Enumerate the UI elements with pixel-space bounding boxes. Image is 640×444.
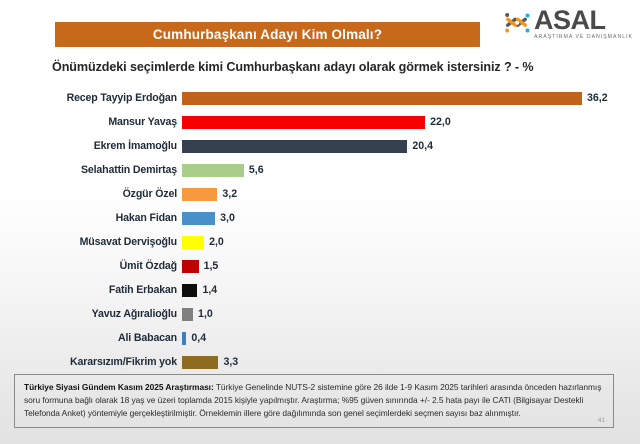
bar-segment xyxy=(182,212,215,225)
bar-value-label: 3,3 xyxy=(223,356,238,368)
methodology-note: Türkiye Siyasi Gündem Kasım 2025 Araştır… xyxy=(14,374,614,428)
bar-segment xyxy=(182,92,582,105)
bar-category-label: Kararsızım/Fikrim yok xyxy=(0,356,182,368)
bar-track: 0,4 xyxy=(182,332,640,345)
methodology-title: Türkiye Siyasi Gündem Kasım 2025 Araştır… xyxy=(24,382,214,392)
bar-track: 3,0 xyxy=(182,212,640,225)
bar-track: 3,2 xyxy=(182,188,640,201)
bar-row: Özgür Özel3,2 xyxy=(0,182,640,206)
bar-segment xyxy=(182,116,425,129)
bar-segment xyxy=(182,308,193,321)
bar-category-label: Recep Tayyip Erdoğan xyxy=(0,92,182,104)
bar-segment xyxy=(182,140,407,153)
bar-value-label: 1,0 xyxy=(198,308,213,320)
bar-value-label: 5,6 xyxy=(249,164,264,176)
bar-category-label: Fatih Erbakan xyxy=(0,284,182,296)
bar-row: Müsavat Dervişoğlu2,0 xyxy=(0,230,640,254)
bar-track: 1,5 xyxy=(182,260,640,273)
slide-header: Cumhurbaşkanı Adayı Kim Olmalı? ASAL xyxy=(0,0,640,52)
bar-row: Mansur Yavaş22,0 xyxy=(0,110,640,134)
bar-value-label: 22,0 xyxy=(430,116,451,128)
bar-row: Recep Tayyip Erdoğan36,2 xyxy=(0,86,640,110)
bar-row: Ali Babacan0,4 xyxy=(0,326,640,350)
bar-segment xyxy=(182,260,199,273)
bar-category-label: Ümit Özdağ xyxy=(0,260,182,272)
asal-logo-tagline: ARAŞTIRMA VE DANIŞMANLIK xyxy=(534,35,633,40)
bar-row: Ümit Özdağ1,5 xyxy=(0,254,640,278)
bar-category-label: Hakan Fidan xyxy=(0,212,182,224)
bar-segment xyxy=(182,188,217,201)
bar-row: Selahattin Demirtaş5,6 xyxy=(0,158,640,182)
bar-track: 22,0 xyxy=(182,116,640,129)
bar-category-label: Selahattin Demirtaş xyxy=(0,164,182,176)
bar-track: 36,2 xyxy=(182,92,640,105)
bar-track: 5,6 xyxy=(182,164,640,177)
bar-track: 1,0 xyxy=(182,308,640,321)
bar-value-label: 3,0 xyxy=(220,212,235,224)
bar-value-label: 1,5 xyxy=(204,260,219,272)
bar-segment xyxy=(182,332,186,345)
bar-segment xyxy=(182,164,244,177)
bar-row: Ekrem İmamoğlu20,4 xyxy=(0,134,640,158)
bar-segment xyxy=(182,236,204,249)
chart-question: Önümüzdeki seçimlerde kimi Cumhurbaşkanı… xyxy=(52,60,534,74)
bar-row: Fatih Erbakan1,4 xyxy=(0,278,640,302)
bar-segment xyxy=(182,284,197,297)
asal-logo-wordmark: ASAL xyxy=(534,8,633,34)
bar-value-label: 36,2 xyxy=(587,92,608,104)
bar-value-label: 2,0 xyxy=(209,236,224,248)
page-number: 41 xyxy=(598,417,605,424)
bar-track: 1,4 xyxy=(182,284,640,297)
bar-category-label: Mansur Yavaş xyxy=(0,116,182,128)
bar-row: Kararsızım/Fikrim yok3,3 xyxy=(0,350,640,374)
slide-title: Cumhurbaşkanı Adayı Kim Olmalı? xyxy=(153,27,382,42)
bar-category-label: Müsavat Dervişoğlu xyxy=(0,236,182,248)
bar-chart: Recep Tayyip Erdoğan36,2Mansur Yavaş22,0… xyxy=(0,86,640,374)
bar-row: Hakan Fidan3,0 xyxy=(0,206,640,230)
asal-logo: ASAL ARAŞTIRMA VE DANIŞMANLIK xyxy=(503,8,633,40)
bar-category-label: Ekrem İmamoğlu xyxy=(0,140,182,152)
slide-title-banner: Cumhurbaşkanı Adayı Kim Olmalı? xyxy=(55,22,480,47)
bar-segment xyxy=(182,356,218,369)
bar-category-label: Özgür Özel xyxy=(0,188,182,200)
bar-category-label: Yavuz Ağıralioğlu xyxy=(0,308,182,320)
bar-value-label: 3,2 xyxy=(222,188,237,200)
bar-value-label: 20,4 xyxy=(412,140,433,152)
bar-track: 3,3 xyxy=(182,356,640,369)
bar-row: Yavuz Ağıralioğlu1,0 xyxy=(0,302,640,326)
asal-logo-mark-icon xyxy=(503,8,533,38)
bar-track: 2,0 xyxy=(182,236,640,249)
bar-track: 20,4 xyxy=(182,140,640,153)
bar-category-label: Ali Babacan xyxy=(0,332,182,344)
bar-value-label: 1,4 xyxy=(202,284,217,296)
bar-value-label: 0,4 xyxy=(191,332,206,344)
